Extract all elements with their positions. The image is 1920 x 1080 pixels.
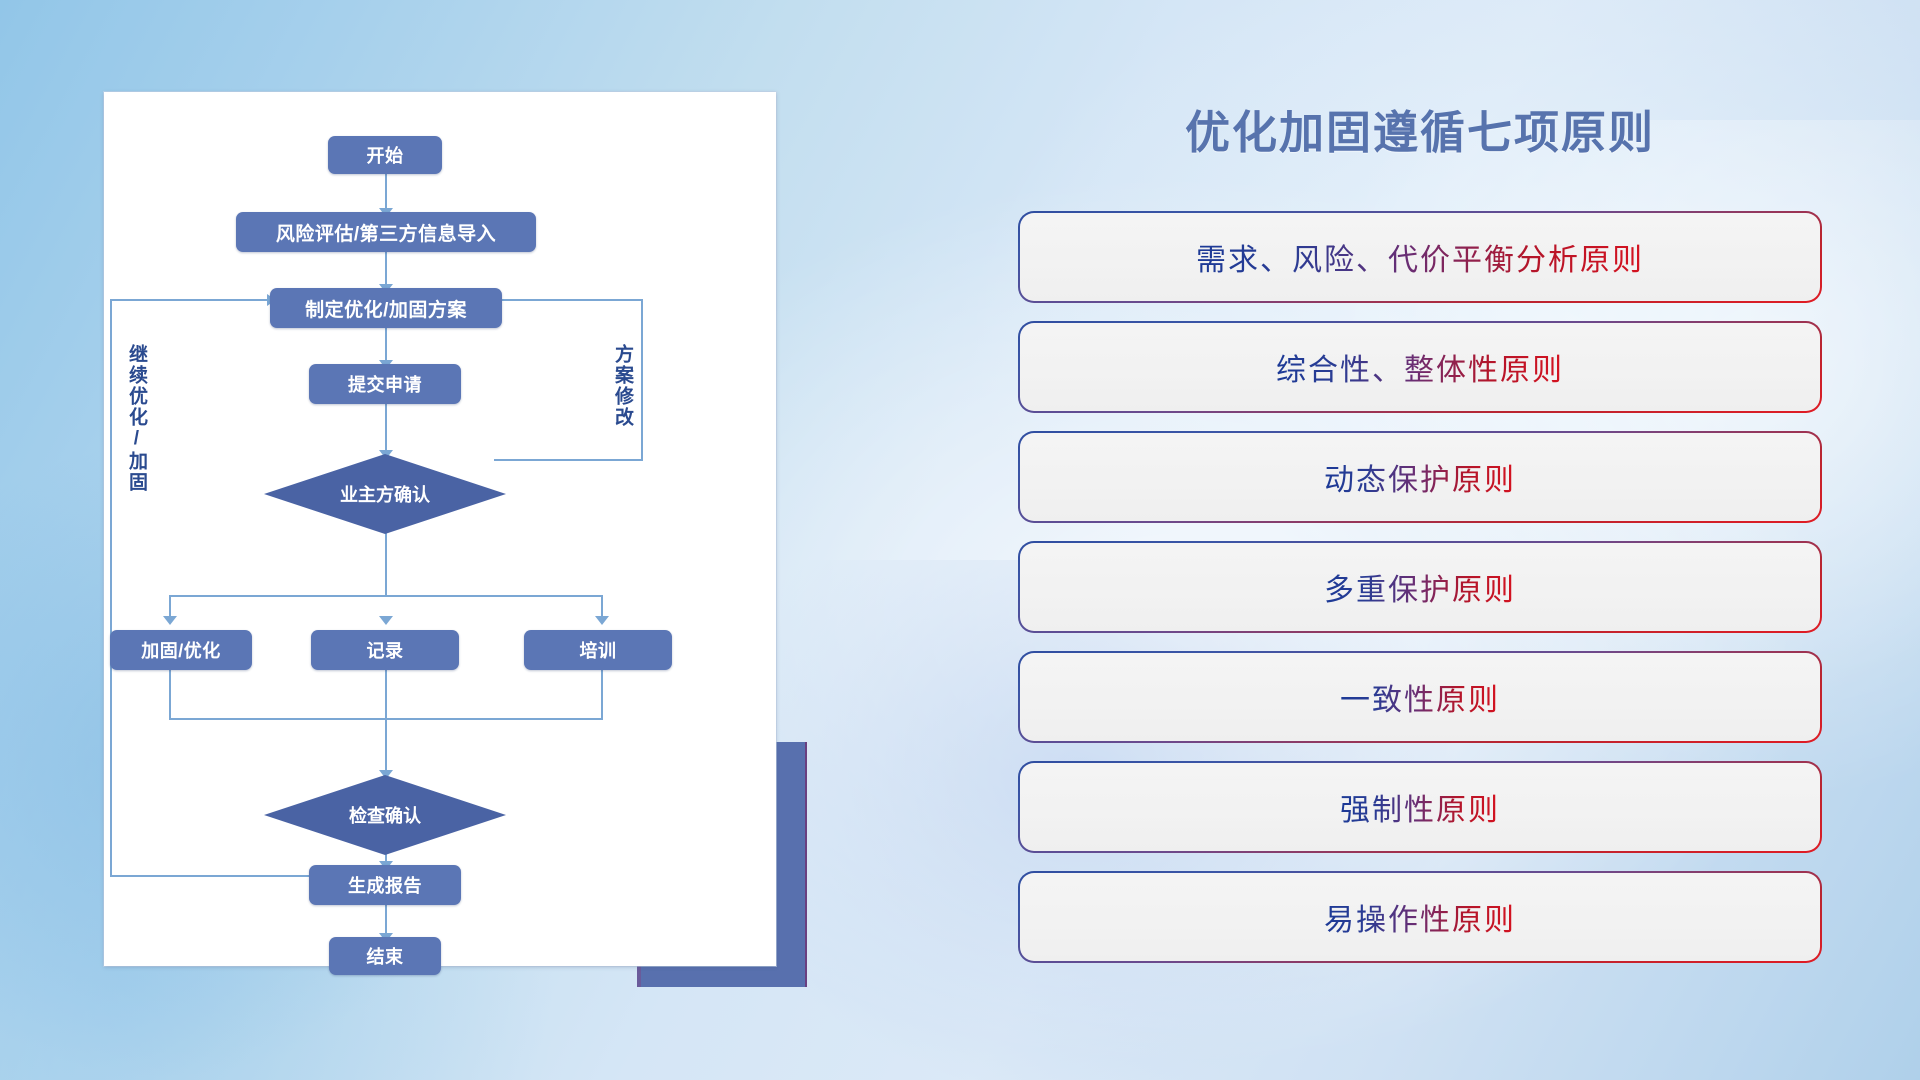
flow-node-hardening[interactable]: 加固/优化 (110, 630, 252, 670)
principle-card-item[interactable]: 多重保护原则 (1020, 543, 1820, 631)
principle-card-6-label: 强制性原则 (1340, 785, 1500, 829)
edge-fanin-mid (385, 670, 387, 775)
principle-card-6[interactable]: 强制性原则 (1020, 763, 1820, 851)
flowchart-canvas: 开始 风险评估/第三方信息导入 制定优化/加固方案 提交申请 业主方确认 加固/… (104, 92, 776, 966)
flow-node-start[interactable]: 开始 (328, 136, 442, 174)
principle-card-item[interactable]: 易操作性原则 (1020, 873, 1820, 961)
principles-column: 优化加固遵循七项原则 需求、风险、代价平衡分析原则 综合性、整体性原则 动态保护… (1020, 96, 1820, 983)
principle-card-2-label: 综合性、整体性原则 (1276, 345, 1564, 389)
principle-card-3[interactable]: 动态保护原则 (1020, 433, 1820, 521)
flow-edge-label-continue-optimize: 继续优化/加固 (126, 344, 146, 493)
flow-node-hardening-label: 加固/优化 (141, 637, 221, 663)
principle-card-7-label: 易操作性原则 (1324, 895, 1516, 939)
principle-card-2[interactable]: 综合性、整体性原则 (1020, 323, 1820, 411)
flow-edge-label-plan-revision: 方案修改 (612, 344, 632, 428)
flow-node-risk-assessment-label: 风险评估/第三方信息导入 (276, 219, 496, 246)
flow-node-report[interactable]: 生成报告 (309, 865, 461, 905)
flow-node-plan[interactable]: 制定优化/加固方案 (270, 288, 502, 328)
principle-card-7[interactable]: 易操作性原则 (1020, 873, 1820, 961)
principle-card-5-label: 一致性原则 (1340, 675, 1500, 719)
page-title: 优化加固遵循七项原则 (1090, 96, 1750, 161)
flow-node-owner-approval[interactable]: 业主方确认 (264, 454, 506, 534)
edge-start-assess (385, 170, 387, 212)
flow-node-training[interactable]: 培训 (524, 630, 672, 670)
edge-loop-right-vertical (641, 299, 643, 461)
edge-plan-submit (385, 326, 387, 364)
principle-card-1[interactable]: 需求、风险、代价平衡分析原则 (1020, 213, 1820, 301)
edge-fanout-bar (169, 595, 601, 597)
edge-fanout-mid-arrowhead (379, 616, 393, 625)
edge-loop-right-bottom (494, 459, 643, 461)
flow-node-check-confirm-label: 检查确认 (349, 802, 421, 828)
principle-card-item[interactable]: 一致性原则 (1020, 653, 1820, 741)
slide-canvas: 开始 风险评估/第三方信息导入 制定优化/加固方案 提交申请 业主方确认 加固/… (0, 0, 1920, 1080)
principle-card-5[interactable]: 一致性原则 (1020, 653, 1820, 741)
flow-node-start-label: 开始 (367, 142, 404, 168)
edge-loop-left-top (110, 299, 268, 301)
flowchart-panel: 开始 风险评估/第三方信息导入 制定优化/加固方案 提交申请 业主方确认 加固/… (104, 92, 776, 966)
flow-node-report-label: 生成报告 (348, 872, 422, 898)
edge-loop-left-vertical (110, 299, 112, 877)
principle-card-4[interactable]: 多重保护原则 (1020, 543, 1820, 631)
flow-node-record[interactable]: 记录 (311, 630, 459, 670)
edge-assess-plan (385, 248, 387, 288)
flow-node-end-label: 结束 (367, 943, 404, 969)
principle-card-item[interactable]: 需求、风险、代价平衡分析原则 (1020, 213, 1820, 301)
edge-loop-right-top (494, 299, 643, 301)
flow-node-check-confirm[interactable]: 检查确认 (264, 775, 506, 855)
principle-card-item[interactable]: 综合性、整体性原则 (1020, 323, 1820, 411)
flow-node-risk-assessment[interactable]: 风险评估/第三方信息导入 (236, 212, 536, 252)
flow-node-submit-label: 提交申请 (348, 371, 422, 397)
principle-card-item[interactable]: 动态保护原则 (1020, 433, 1820, 521)
edge-fanout-right-arrowhead (595, 616, 609, 625)
flow-node-submit[interactable]: 提交申请 (309, 364, 461, 404)
edge-fanin-right (601, 670, 603, 720)
edge-fanin-left (169, 670, 171, 720)
edge-fanout-left-arrowhead (163, 616, 177, 625)
edge-submit-approve (385, 402, 387, 454)
flow-node-plan-label: 制定优化/加固方案 (305, 295, 467, 322)
principle-card-1-label: 需求、风险、代价平衡分析原则 (1196, 235, 1644, 279)
flow-node-end[interactable]: 结束 (329, 937, 441, 975)
principle-card-item[interactable]: 强制性原则 (1020, 763, 1820, 851)
flow-node-record-label: 记录 (367, 637, 404, 663)
principle-card-4-label: 多重保护原则 (1324, 565, 1516, 609)
principle-card-3-label: 动态保护原则 (1324, 455, 1516, 499)
flow-node-owner-approval-label: 业主方确认 (340, 481, 430, 507)
edge-report-end (385, 903, 387, 937)
flow-node-training-label: 培训 (580, 637, 617, 663)
